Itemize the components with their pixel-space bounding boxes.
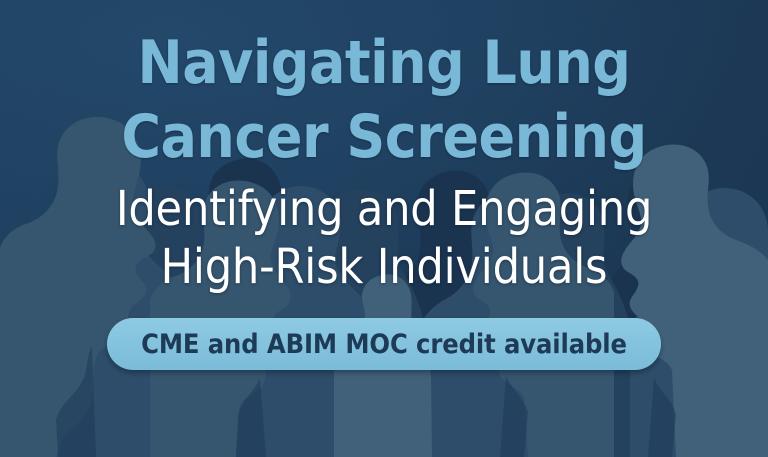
title-line-1: Navigating Lung [121, 26, 646, 100]
badge-container: CME and ABIM MOC credit available [107, 318, 661, 370]
banner-content: Navigating Lung Cancer Screening Identif… [0, 0, 768, 457]
title-line-2: Cancer Screening [121, 100, 646, 174]
banner-title: Navigating Lung Cancer Screening [121, 26, 646, 174]
cme-credit-badge[interactable]: CME and ABIM MOC credit available [107, 318, 661, 370]
banner-subtitle: Identifying and Engaging High-Risk Indiv… [116, 180, 652, 296]
subtitle-line-2: High-Risk Individuals [116, 238, 652, 296]
subtitle-line-1: Identifying and Engaging [116, 180, 652, 238]
lung-cancer-screening-banner: Navigating Lung Cancer Screening Identif… [0, 0, 768, 457]
